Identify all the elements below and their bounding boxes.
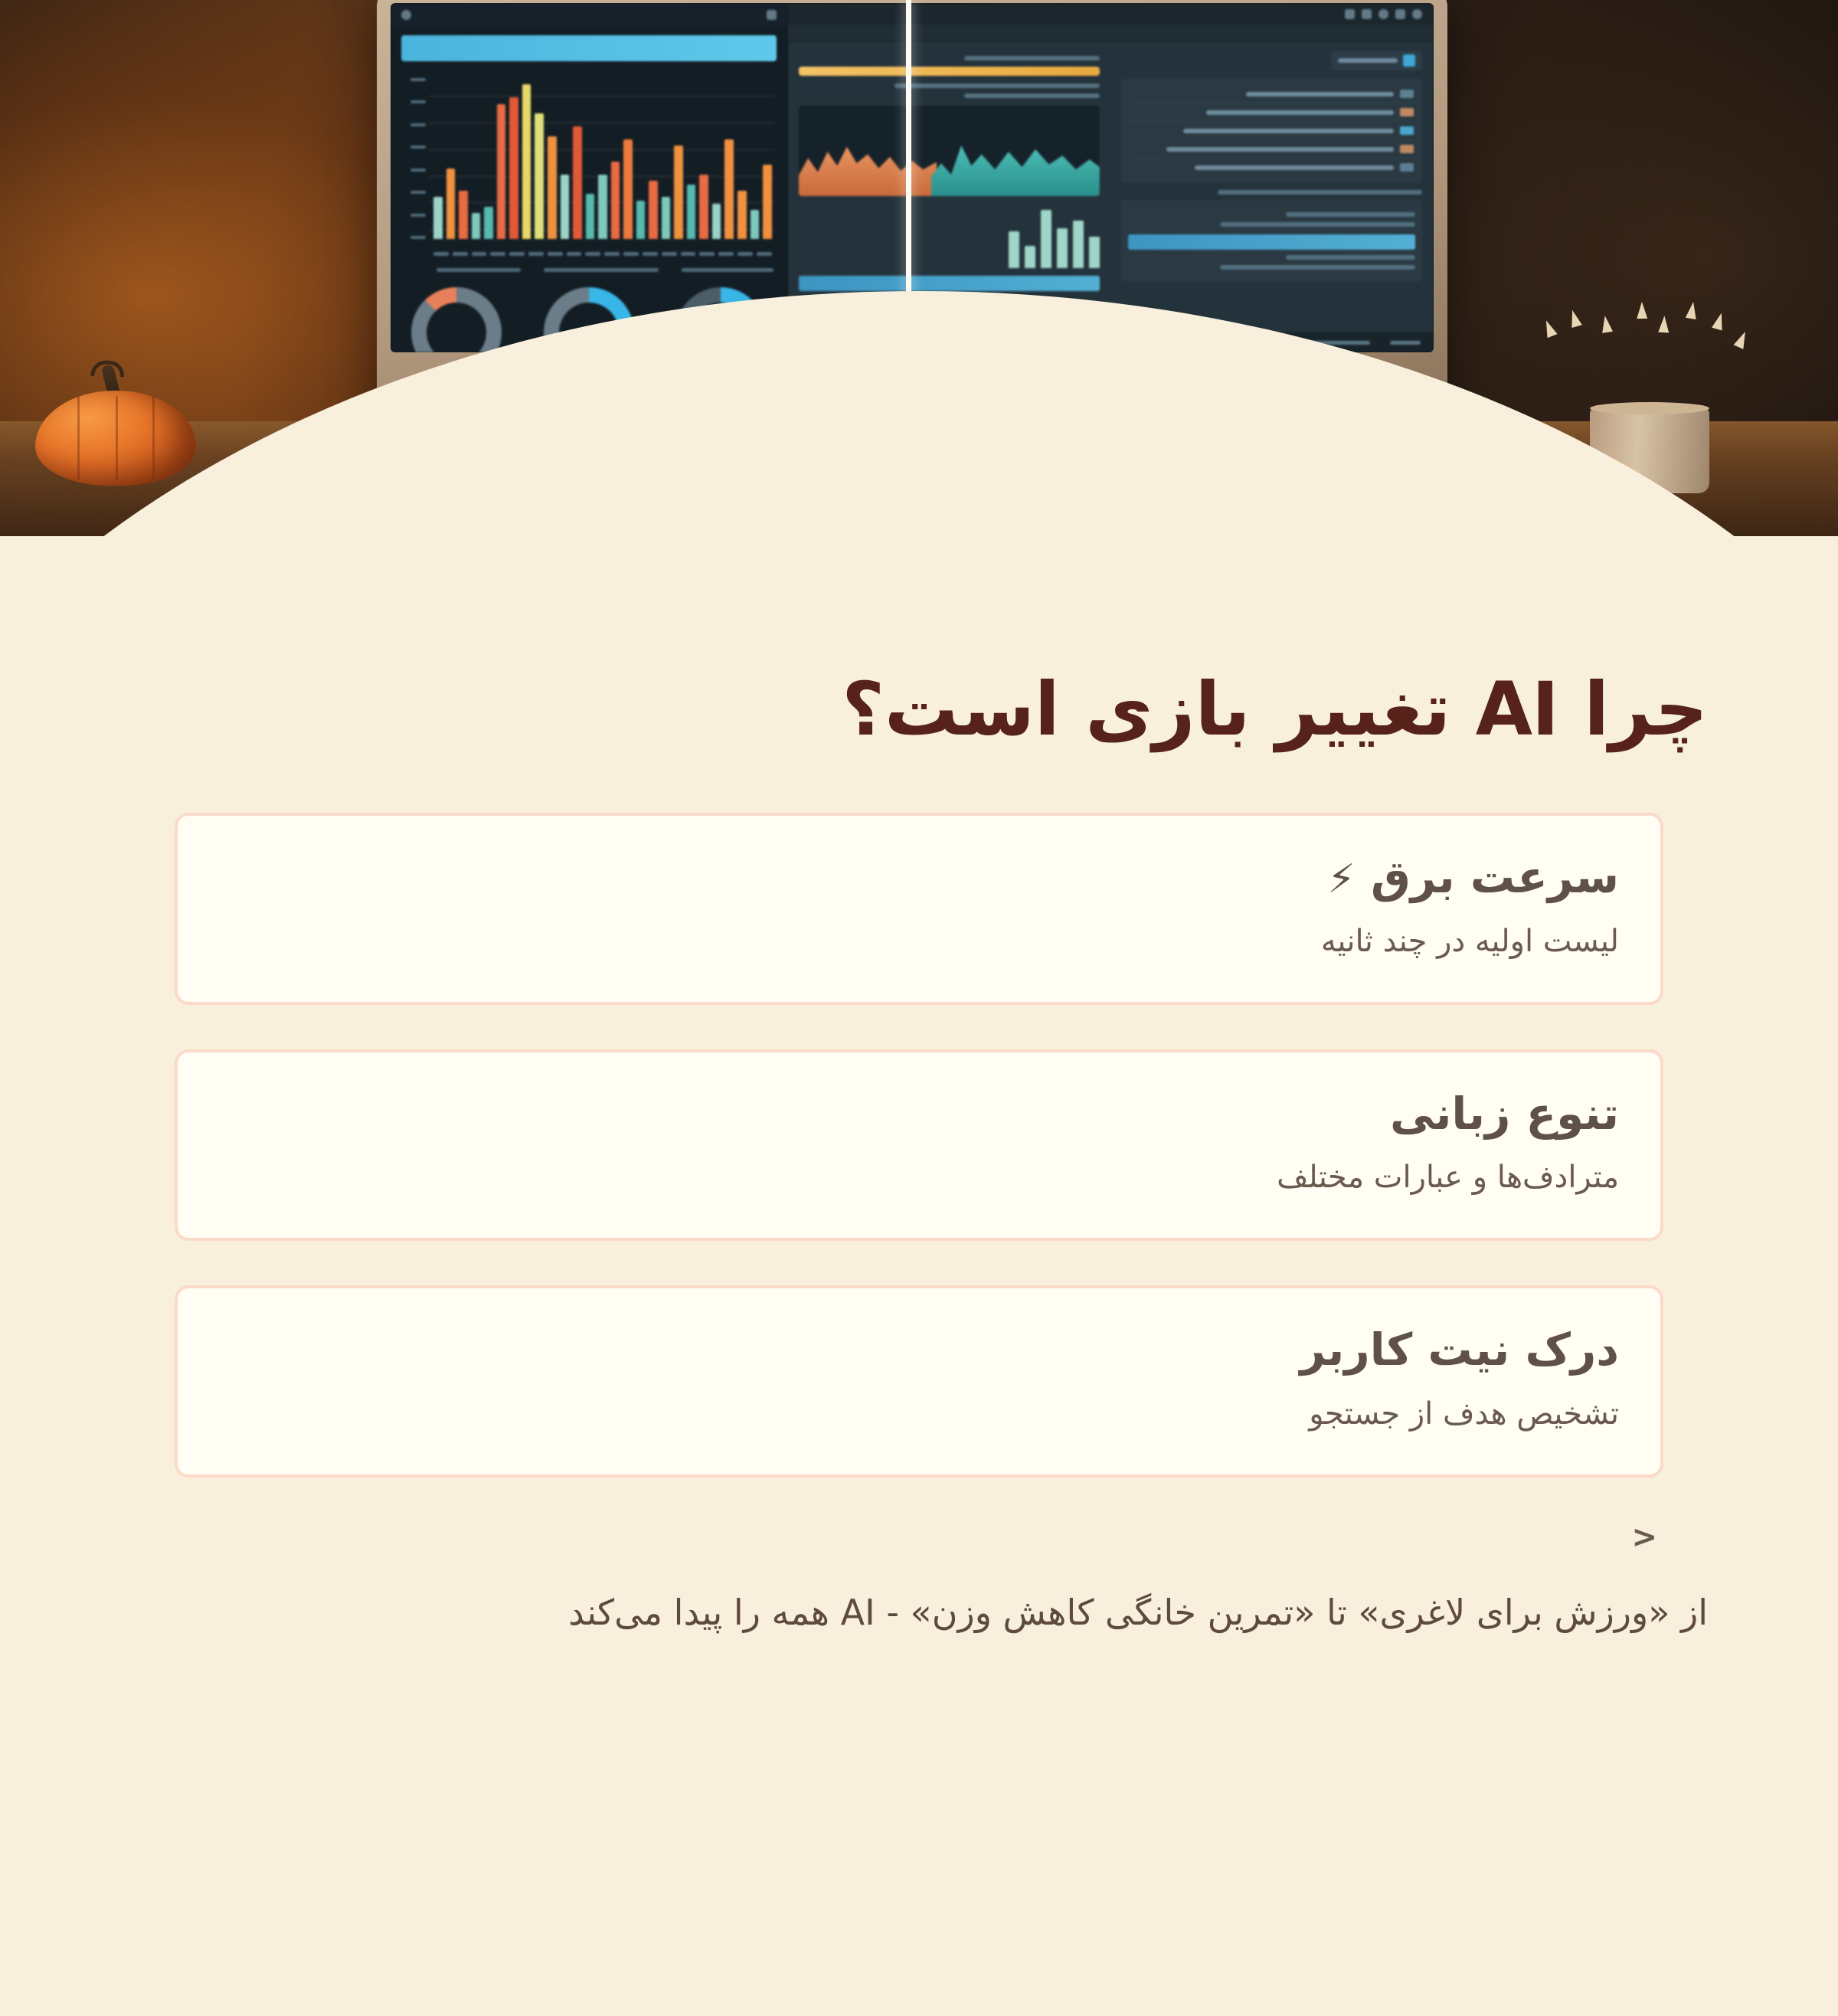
feature-card-3[interactable]: درک نیت کاربر تشخیص هدف از جستجو (175, 1285, 1663, 1478)
list-card (1121, 78, 1422, 183)
feature-card-2[interactable]: تنوع زبانی مترادف‌ها و عبارات مختلف (175, 1049, 1663, 1242)
dashboard-right-pane (391, 3, 787, 352)
grid-icon (1345, 9, 1355, 19)
feature-card-list: سرعت برق ⚡ لیست اولیه در چند ثانیه تنوع … (175, 813, 1663, 1478)
feature-card-heading: تنوع زبانی (1390, 1088, 1619, 1140)
breadcrumb-chip (1331, 51, 1422, 70)
app-icon (1395, 9, 1405, 19)
chart-legend (404, 268, 773, 272)
logo-icon (767, 10, 777, 20)
hero-image (0, 0, 1838, 536)
app-toolbar (787, 3, 1433, 25)
avatar (401, 10, 411, 20)
pumpkin-decoration (35, 388, 196, 486)
feature-card-subtitle: تشخیص هدف از جستجو (219, 1392, 1619, 1436)
area-chart (799, 106, 1100, 196)
mini-bar-chart (799, 202, 1100, 268)
footer-note: از «ورزش برای لاغری» تا «تمرین خانگی کاه… (130, 1586, 1708, 1639)
app-subbar (787, 25, 1433, 41)
x-axis (433, 252, 772, 256)
feature-card-title: سرعت برق ⚡ (219, 849, 1619, 905)
app-icon (1378, 9, 1388, 19)
slide-root: چرا AI تغییر بازی است؟ سرعت برق ⚡ لیست ا… (0, 0, 1838, 2016)
search-input[interactable] (401, 35, 777, 61)
pumpkin-body (35, 391, 196, 486)
feature-card-subtitle: مترادف‌ها و عبارات مختلف (219, 1155, 1619, 1199)
feature-card-heading: درک نیت کاربر (1300, 1324, 1619, 1376)
app-icon (1412, 9, 1422, 19)
highlight-bar (799, 67, 1100, 76)
chevron-left-icon: < (0, 1522, 1657, 1553)
dashboard-header (391, 3, 787, 26)
feature-card-heading: سرعت برق (1371, 851, 1619, 903)
donut-chart (411, 287, 502, 352)
y-axis (403, 78, 426, 239)
detail-card (1121, 200, 1422, 282)
feature-card-title: تنوع زبانی (219, 1086, 1619, 1142)
gear-icon (1362, 9, 1372, 19)
bar-series (433, 78, 772, 239)
lightning-bolt-icon: ⚡ (1327, 856, 1356, 902)
feature-card-1[interactable]: سرعت برق ⚡ لیست اولیه در چند ثانیه (175, 813, 1663, 1005)
page-title: چرا AI تغییر بازی است؟ (130, 666, 1708, 753)
bar-chart (403, 78, 775, 256)
content-area: چرا AI تغییر بازی است؟ سرعت برق ⚡ لیست ا… (0, 536, 1838, 2016)
feature-card-subtitle: لیست اولیه در چند ثانیه (219, 919, 1619, 964)
feature-card-title: درک نیت کاربر (219, 1322, 1619, 1378)
